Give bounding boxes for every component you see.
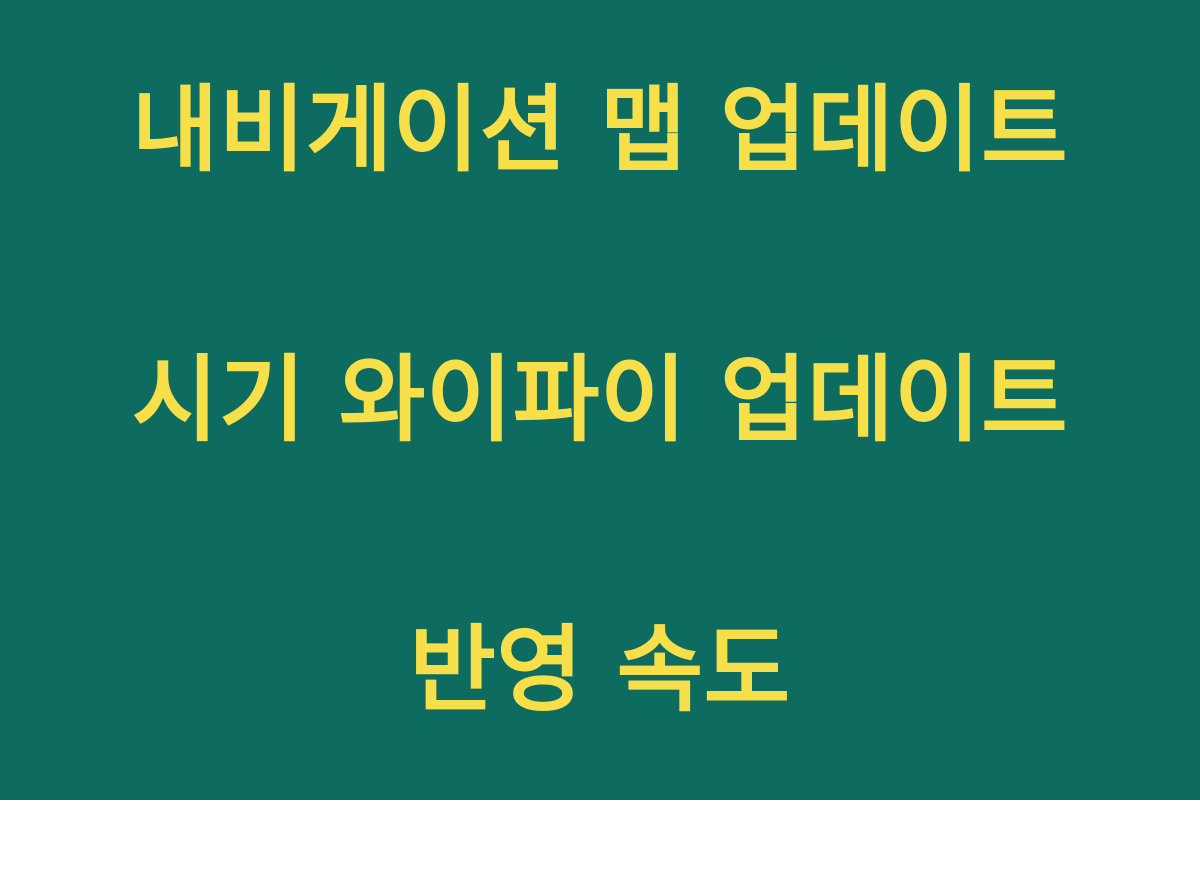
headline-line-3: 반영 속도 (95, 603, 1105, 738)
headline-line-1: 내비게이션 맵 업데이트 (95, 63, 1105, 198)
headline-line-2: 시기 와이파이 업데이트 (95, 333, 1105, 468)
page-title: 내비게이션 맵 업데이트 시기 와이파이 업데이트 반영 속도 (95, 0, 1105, 873)
title-card: 내비게이션 맵 업데이트 시기 와이파이 업데이트 반영 속도 (0, 0, 1200, 800)
